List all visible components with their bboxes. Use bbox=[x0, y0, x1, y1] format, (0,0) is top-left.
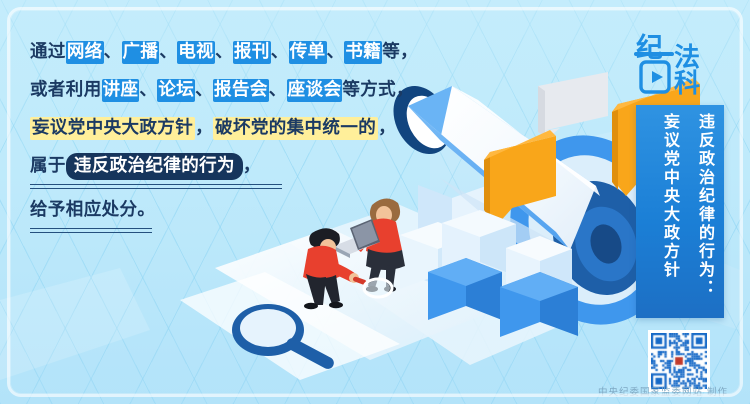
copy-line-2: 或者利用讲座、论坛、报告会、座谈会等方式， bbox=[30, 72, 430, 108]
copy-l5-text: 给予相应处分。 bbox=[30, 200, 155, 220]
infographic-poster: 通过网络、广播、电视、报刊、传单、书籍等， 或者利用讲座、论坛、报告会、座谈会等… bbox=[0, 0, 750, 404]
speech-bubble-grey bbox=[538, 72, 608, 138]
copy-l3-tail: ， bbox=[378, 118, 396, 138]
keyword-dianshi: 电视 bbox=[177, 41, 215, 64]
copy-l3-mid: ， bbox=[195, 118, 213, 138]
logo-bai-play-mark bbox=[638, 54, 672, 94]
keyword-wangluo: 网络 bbox=[66, 41, 104, 64]
copy-l1-seg1: 通过 bbox=[30, 42, 66, 62]
copy-l1-sep1: 、 bbox=[104, 42, 122, 62]
copy-l4-tail: ， bbox=[243, 156, 261, 176]
keyword-shuji: 书籍 bbox=[344, 41, 382, 64]
copy-l1-sep2: 、 bbox=[159, 42, 177, 62]
logo-char-ke: 科 bbox=[674, 63, 700, 100]
copy-line-4: 属于违反政治纪律的行为， bbox=[30, 148, 430, 184]
conclusion-pill: 违反政治纪律的行为 bbox=[66, 153, 243, 180]
credit-line: 中央纪委国家监委网站 制作 bbox=[598, 384, 728, 398]
copy-l2-sep2: 、 bbox=[195, 80, 213, 100]
copy-l1-sep3: 、 bbox=[215, 42, 233, 62]
vertical-text-right: 违反政治纪律的行为： bbox=[696, 113, 715, 309]
qr-code-canvas bbox=[651, 333, 707, 389]
copy-line-1: 通过网络、广播、电视、报刊、传单、书籍等， bbox=[30, 34, 430, 70]
keyword-baogaohui: 报告会 bbox=[213, 79, 269, 102]
keyword-zuotanhui: 座谈会 bbox=[287, 79, 343, 102]
right-rail: 纪 法 科 违反政治纪律的行为： 妄议党中央大政方针 bbox=[626, 0, 736, 404]
keyword-jiangzuo: 讲座 bbox=[102, 79, 140, 102]
keyword-pohuai-jizhong: 破坏党的集中统一的 bbox=[213, 117, 378, 140]
copy-l2-tail: 等方式， bbox=[342, 80, 414, 100]
body-copy: 通过网络、广播、电视、报刊、传单、书籍等， 或者利用讲座、论坛、报告会、座谈会等… bbox=[30, 34, 430, 230]
qr-code[interactable] bbox=[648, 330, 710, 392]
copy-line-3: 妄议党中央大政方针，破坏党的集中统一的， bbox=[30, 110, 430, 146]
copy-l1-sep4: 、 bbox=[271, 42, 289, 62]
copy-l2-seg1: 或者利用 bbox=[30, 80, 102, 100]
copy-l2-sep1: 、 bbox=[139, 80, 157, 100]
vertical-text-left: 妄议党中央大政方针 bbox=[661, 113, 680, 309]
copy-l1-sep5: 、 bbox=[327, 42, 345, 62]
copy-l2-sep3: 、 bbox=[269, 80, 287, 100]
keyword-chuandan: 传单 bbox=[289, 41, 327, 64]
play-triangle-icon bbox=[652, 71, 663, 83]
copy-line-5: 给予相应处分。 bbox=[30, 192, 430, 228]
vertical-title-banner: 违反政治纪律的行为： 妄议党中央大政方针 bbox=[636, 105, 724, 318]
keyword-guangbo: 广播 bbox=[122, 41, 160, 64]
copy-l1-tail: 等， bbox=[382, 42, 418, 62]
brand-logo: 纪 法 科 bbox=[632, 26, 728, 98]
keyword-baokan: 报刊 bbox=[233, 41, 271, 64]
keyword-luntan: 论坛 bbox=[157, 79, 195, 102]
keyword-wangyi-dazheng: 妄议党中央大政方针 bbox=[30, 117, 195, 140]
copy-l4-lead: 属于 bbox=[30, 156, 66, 176]
light-wedge bbox=[0, 268, 150, 380]
